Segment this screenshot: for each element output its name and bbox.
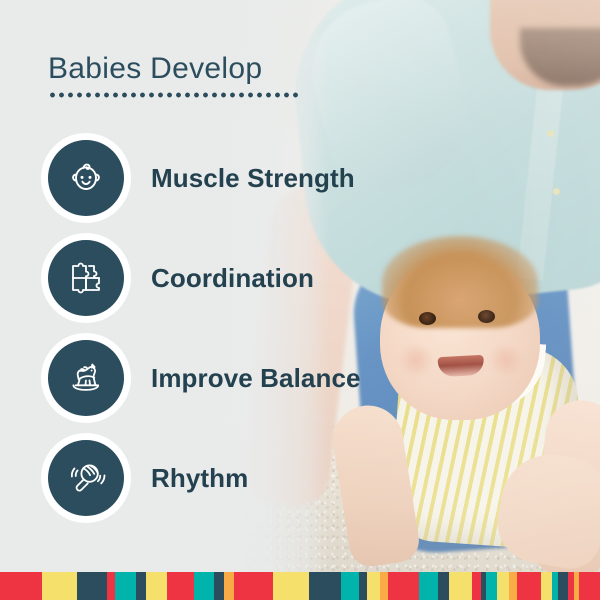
stripe-4 [115,572,136,600]
baby-face-icon [64,156,108,200]
stripe-15 [359,572,367,600]
dotted-divider [48,92,300,98]
stripe-2 [77,572,107,600]
list-item[interactable]: Muscle Strength [0,128,600,228]
baby-rattle-icon [64,456,108,500]
stripe-0 [0,572,42,600]
stripe-8 [194,572,214,600]
stripe-28 [541,572,552,600]
list-item[interactable]: Rhythm [0,428,600,528]
page-title: Babies Develop [48,52,262,86]
badge-improve-balance[interactable] [48,340,124,416]
stripe-27 [517,572,541,600]
stripe-5 [136,572,147,600]
list-item-label: Coordination [151,263,314,294]
list-item[interactable]: Coordination [0,228,600,328]
list-item-label: Improve Balance [151,363,361,394]
stripe-20 [438,572,449,600]
poster: Babies Develop [0,0,600,600]
stripe-1 [42,572,77,600]
list-item-label: Muscle Strength [151,163,355,194]
stripe-22 [472,572,481,600]
stripe-24 [486,572,497,600]
stripe-30 [558,572,568,600]
stripe-25 [497,572,508,600]
stripe-7 [167,572,194,600]
list-item-label: Rhythm [151,463,248,494]
stripe-13 [309,572,342,600]
list-item[interactable]: Improve Balance [0,328,600,428]
stripe-6 [146,572,167,600]
badge-rhythm[interactable] [48,440,124,516]
stripe-17 [380,572,387,600]
stripe-18 [388,572,419,600]
badge-coordination[interactable] [48,240,124,316]
stripe-14 [341,572,359,600]
stripe-11 [234,572,273,600]
benefit-list: Muscle Strength [0,128,600,528]
rocking-horse-icon [63,355,109,401]
stripe-19 [419,572,439,600]
content-area: Babies Develop [0,0,600,572]
stripe-12 [273,572,309,600]
stripe-21 [449,572,472,600]
stripe-33 [579,572,600,600]
stripe-26 [509,572,517,600]
stripe-16 [367,572,380,600]
stripe-10 [224,572,234,600]
stripe-9 [214,572,225,600]
puzzle-icon [65,257,107,299]
badge-muscle-strength[interactable] [48,140,124,216]
bottom-stripe-bar [0,572,600,600]
stripe-3 [107,572,114,600]
